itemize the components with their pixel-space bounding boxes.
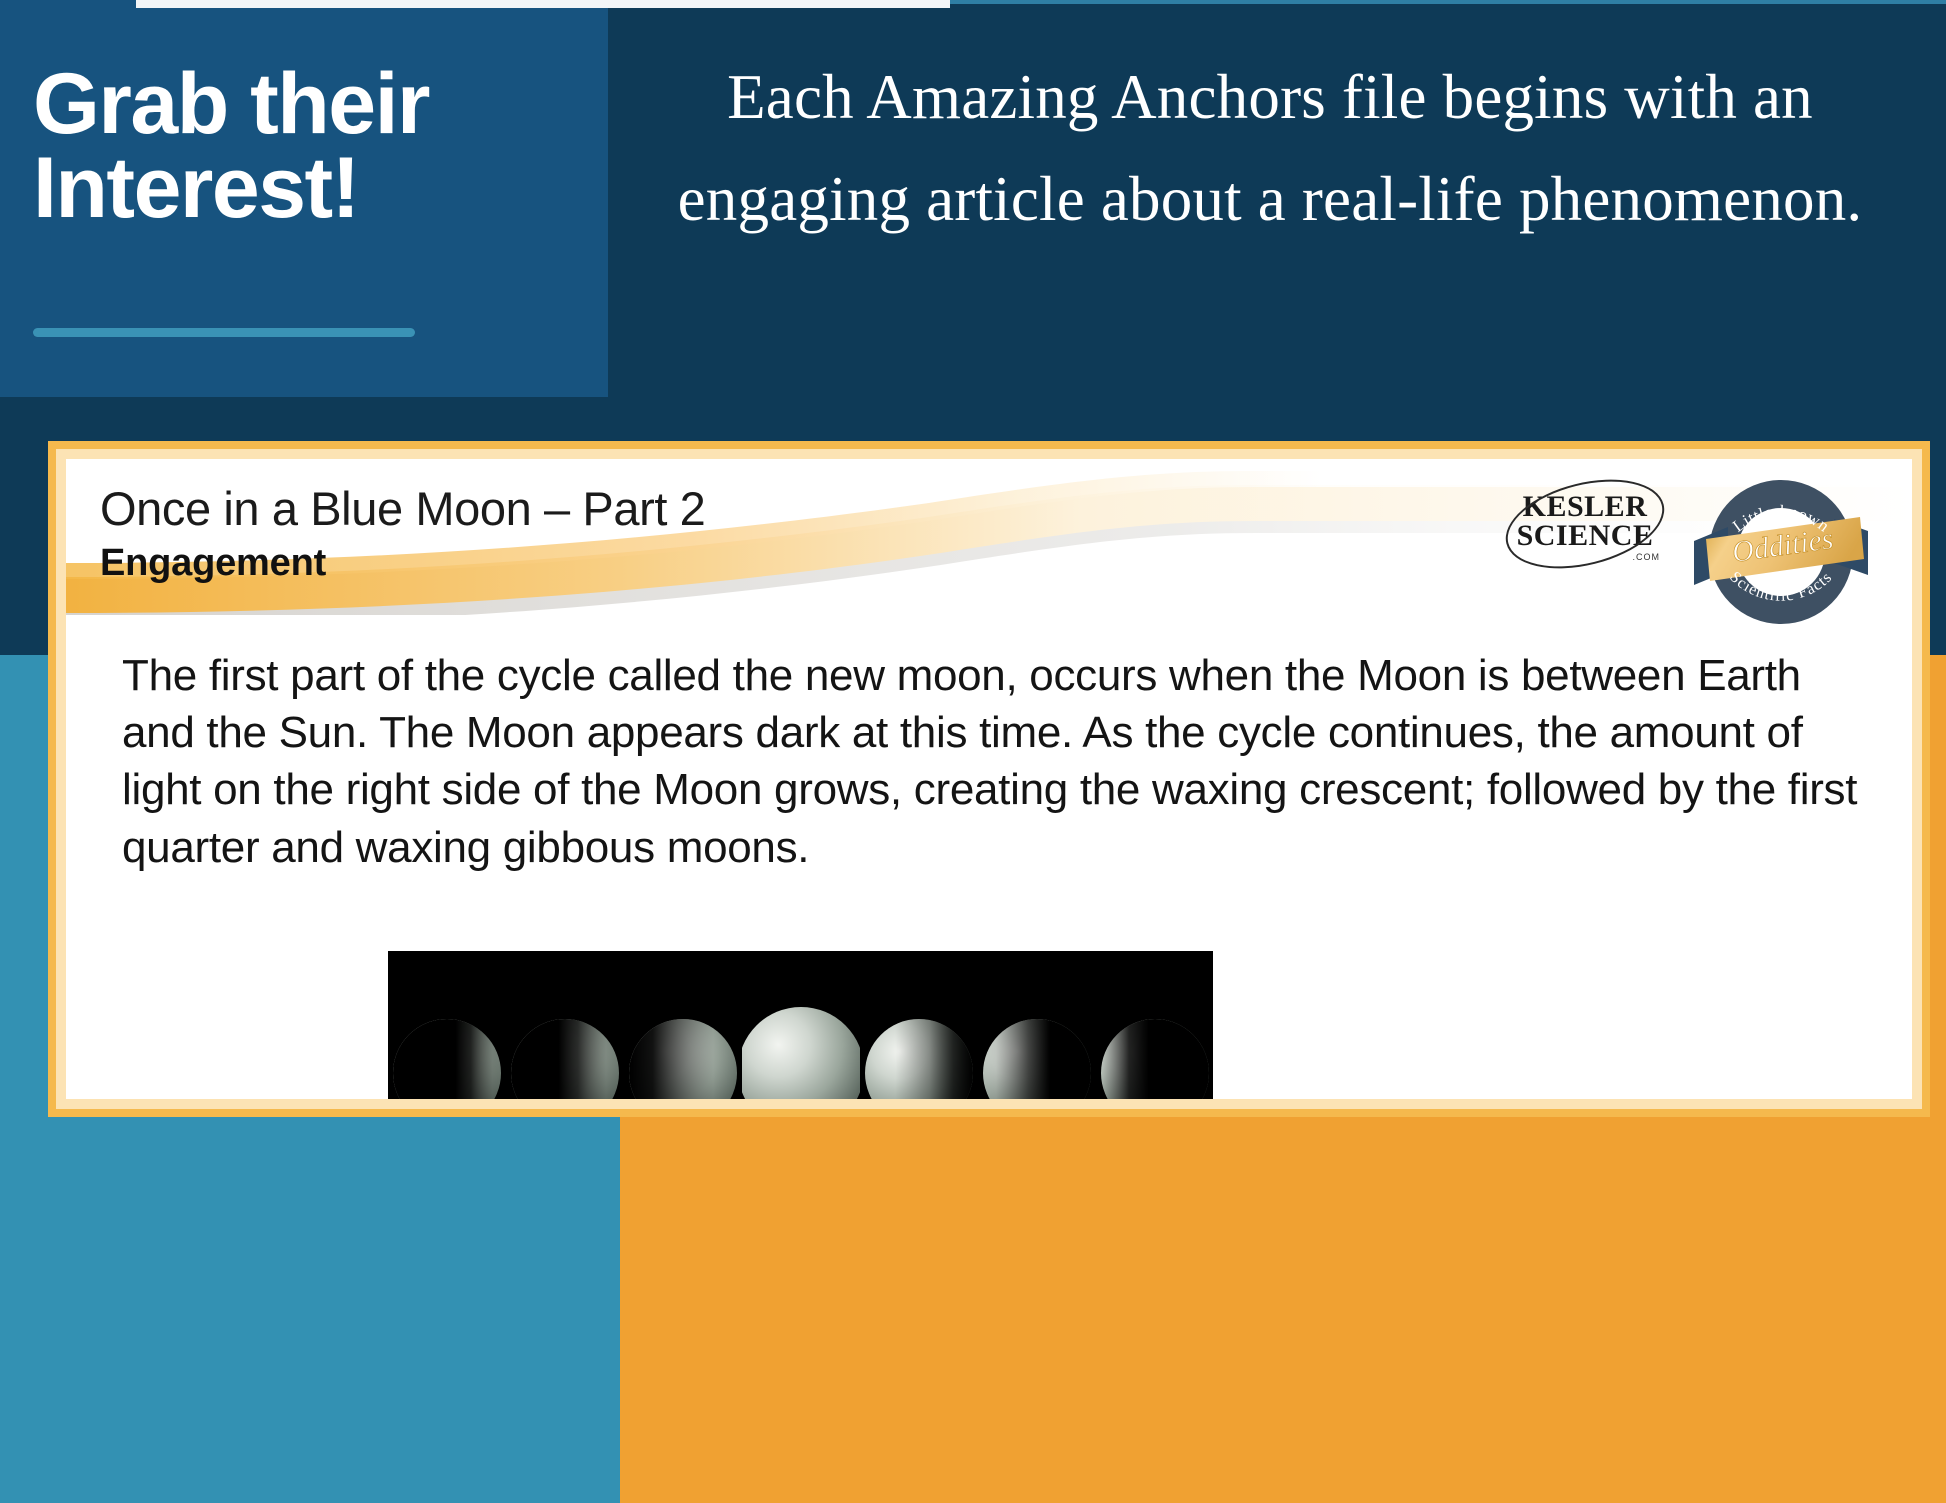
moon-phase-4-full	[742, 965, 860, 1099]
hero-heading-panel: Grab their Interest!	[0, 0, 608, 397]
moon-phase-5	[860, 965, 978, 1099]
hero-title-line-2: Interest!	[33, 146, 578, 230]
moon-phase-6	[978, 965, 1096, 1099]
document-cream-frame: Once in a Blue Moon – Part 2 Engagement …	[56, 449, 1922, 1109]
moon-phase-3	[624, 965, 742, 1099]
moon-phase-2	[506, 965, 624, 1099]
hero-underline-rule	[33, 328, 415, 337]
intro-text-panel: Each Amazing Anchors file begins with an…	[625, 46, 1915, 406]
moon-phase-1	[388, 965, 506, 1099]
document-gold-frame: Once in a Blue Moon – Part 2 Engagement …	[48, 441, 1930, 1117]
oddities-badge: Little-known Scientific Facts Oddities	[1692, 467, 1870, 637]
top-accent-hairline	[950, 0, 1946, 4]
kesler-science-logo: KESLER SCIENCE .COM	[1510, 493, 1660, 562]
hero-title-line-1: Grab their	[33, 62, 578, 146]
document-title-block: Once in a Blue Moon – Part 2 Engagement	[100, 481, 705, 585]
document-title: Once in a Blue Moon – Part 2	[100, 481, 705, 536]
intro-paragraph: Each Amazing Anchors file begins with an…	[665, 46, 1875, 250]
orbit-ellipse-icon	[1496, 465, 1673, 584]
moon-phases-image	[388, 951, 1213, 1099]
document-body-paragraph: The first part of the cycle called the n…	[122, 647, 1872, 876]
moon-phase-7	[1096, 965, 1213, 1099]
document-page: Once in a Blue Moon – Part 2 Engagement …	[66, 459, 1912, 1099]
document-subtitle: Engagement	[100, 542, 705, 585]
